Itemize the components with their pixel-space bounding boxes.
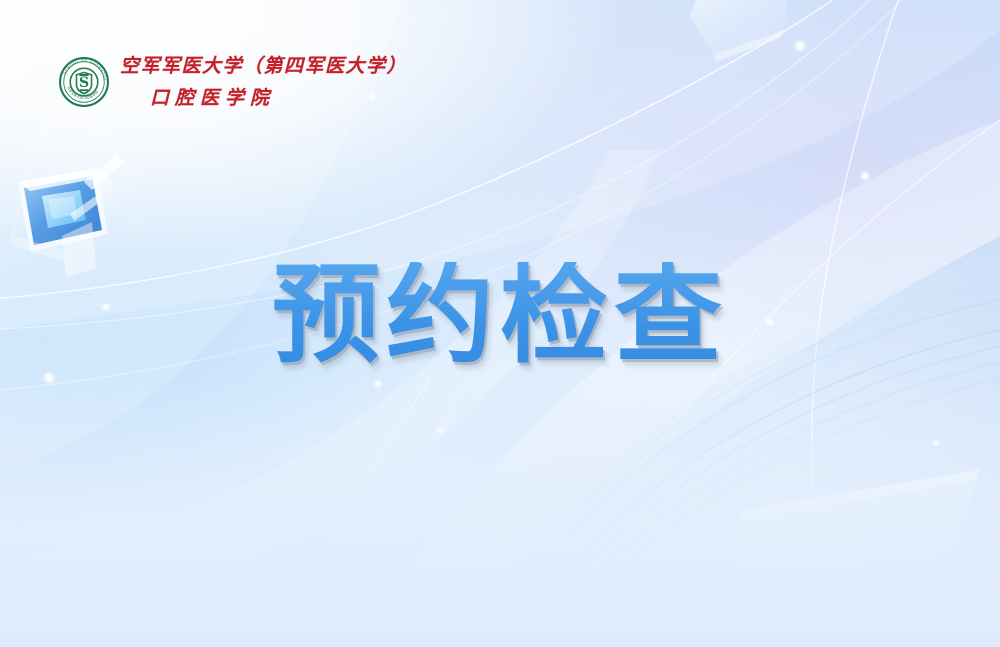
institution-name-primary: 空军军医大学（第四军医大学） <box>120 56 407 78</box>
institution-logo-lockup: S SCHOOL OF STOMATOLOGY 空军军医大学口腔医学院 空军军医… <box>58 54 407 110</box>
page-title: 预约检查 <box>264 262 736 380</box>
title-slide: S SCHOOL OF STOMATOLOGY 空军军医大学口腔医学院 空军军医… <box>0 0 1000 647</box>
institution-name-secondary: 口腔医学院 <box>120 88 407 110</box>
institution-name-block: 空军军医大学（第四军医大学） 口腔医学院 <box>120 54 407 110</box>
svg-text:S: S <box>79 75 89 91</box>
title-container: 预约检查 <box>0 262 1000 380</box>
school-seal-icon: S SCHOOL OF STOMATOLOGY 空军军医大学口腔医学院 <box>58 56 110 108</box>
